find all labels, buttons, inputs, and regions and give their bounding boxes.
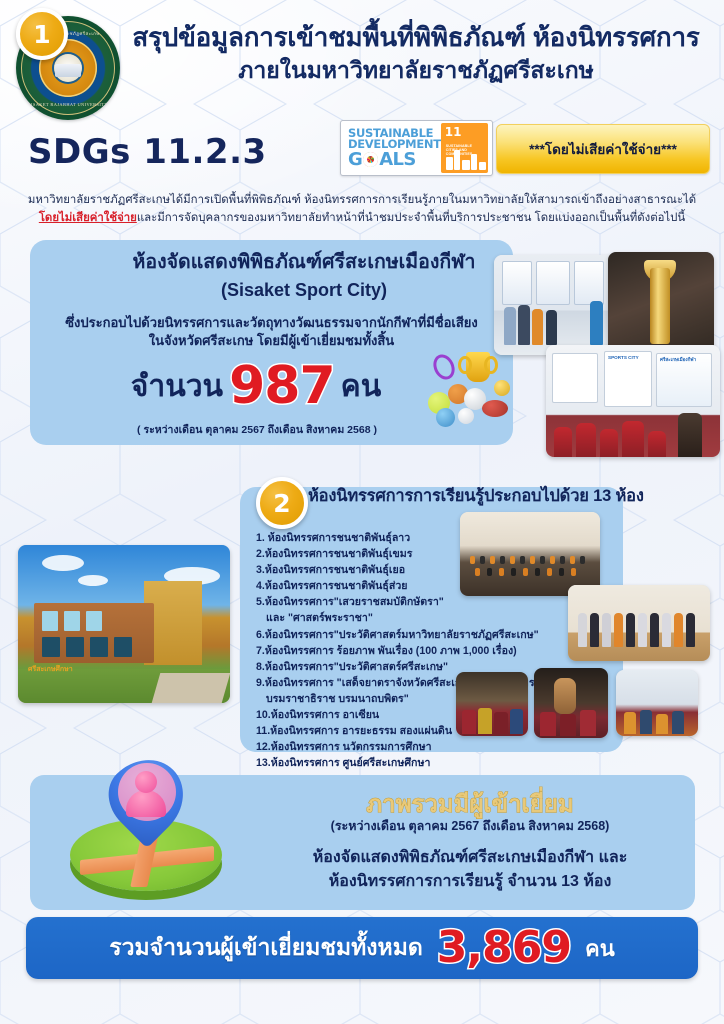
sdg-goals-g: G — [348, 151, 362, 169]
exhibition-room-item: 12.ห้องนิทรรศการ นวัตกรรมการศึกษา — [256, 739, 676, 755]
trophy-icon — [466, 352, 490, 382]
photo-muaythai-image — [534, 668, 608, 738]
photo-group — [460, 512, 600, 596]
sdg-word-goals: G ALS — [348, 151, 441, 169]
page-header: มหาวิทยาลัยราชภัฏศรีสะเกษ SISAKET RAJABH… — [0, 0, 724, 120]
sdg-goal-11-tile: 11 SUSTAINABLE CITIES AND COMMUNITIES — [441, 123, 488, 173]
building-sign-text: ศรีสะเกษศึกษา — [28, 664, 73, 675]
photo-sportcity-image: SPORTS CITY ศรีสะเกษเมืองกีฬา — [546, 345, 720, 457]
photo-building: ศรีสะเกษศึกษา — [18, 545, 230, 703]
page-title: สรุปข้อมูลการเข้าชมพื้นที่พิพิธภัณฑ์ ห้อ… — [118, 22, 714, 54]
intro-line-2: และมีการจัดบุคลากรของมหาวิทยาลัยทำหน้าที… — [137, 212, 685, 224]
sdg-heading: SDGs 11.2.3 — [28, 132, 267, 172]
photo-corridor — [616, 670, 698, 736]
section-1-desc-line-1: ซึ่งประกอบไปด้วยนิทรรศการและวัตถุทางวัฒน… — [65, 315, 478, 330]
section-2-number-badge: 2 — [256, 477, 308, 529]
football-icon — [482, 400, 508, 417]
sports-equipment-icon — [428, 352, 514, 430]
total-visitors-label: รวมจำนวนผู้เข้าเยี่ยมชมทั้งหมด — [109, 930, 423, 966]
photo-gallery — [568, 585, 710, 661]
free-admission-text: ***โดยไม่เสียค่าใช้จ่าย*** — [529, 138, 677, 160]
volleyball-icon — [436, 408, 455, 427]
section-1-count-row: จำนวน 987 คน — [56, 362, 456, 411]
summary-period: (ระหว่างเดือน ตุลาคม 2567 ถึงเดือน สิงหา… — [245, 816, 695, 836]
sdg-goals-als: ALS — [379, 151, 416, 169]
building-path — [152, 673, 230, 703]
location-pin-illustration — [62, 757, 232, 912]
photo-ceremony — [456, 672, 528, 736]
section-1-title: ห้องจัดแสดงพิพิธภัณฑ์ศรีสะเกษเมืองกีฬา — [104, 250, 504, 274]
free-admission-banner: ***โดยไม่เสียค่าใช้จ่าย*** — [496, 124, 710, 174]
medal-icon — [494, 380, 510, 396]
summary-line-2: ห้องนิทรรศการการเรียนรู้ จำนวน 13 ห้อง — [245, 869, 695, 894]
page-subtitle: ภายในมหาวิทยาลัยราชภัฏศรีสะเกษ — [118, 56, 714, 86]
photo-sportcity: SPORTS CITY ศรีสะเกษเมืองกีฬา — [546, 345, 720, 457]
section-1-card: ห้องจัดแสดงพิพิธภัณฑ์ศรีสะเกษเมืองกีฬา (… — [30, 240, 513, 445]
intro-line-1: มหาวิทยาลัยราชภัฏศรีสะเกษได้มีการเปิดพื้… — [28, 194, 696, 206]
section-1-description: ซึ่งประกอบไปด้วยนิทรรศการและวัตถุทางวัฒน… — [42, 314, 501, 351]
section-1-subtitle: (Sisaket Sport City) — [104, 280, 504, 301]
pin-person-head-icon — [135, 771, 157, 793]
sdg-goal-number: 11 — [445, 126, 462, 138]
summary-line-1: ห้องจัดแสดงพิพิธภัณฑ์ศรีสะเกษเมืองกีฬา แ… — [245, 845, 695, 870]
tennis-racket-icon — [429, 351, 458, 383]
section-1-count-value: 987 — [229, 362, 335, 411]
section-1-desc-line-2: ในจังหวัดศรีสะเกษ โดยมีผู้เข้าเยี่ยมชมทั… — [149, 333, 394, 348]
photo-group-image — [460, 512, 600, 596]
shuttlecock-icon — [458, 408, 474, 424]
section-2-title: ห้องนิทรรศการการเรียนรู้ประกอบไปด้วย 13 … — [308, 483, 708, 509]
section-1-number-badge: 1 — [16, 8, 68, 60]
photo-building-image: ศรีสะเกษศึกษา — [18, 545, 230, 703]
sdg-city-icon — [446, 150, 486, 170]
section-1-count-label: จำนวน — [131, 363, 223, 410]
total-visitors-unit: คน — [585, 931, 615, 966]
photo-gallery-image — [568, 585, 710, 661]
trophy-column-shape — [650, 268, 670, 344]
exhibition-room-item: 13.ห้องนิทรรศการ ศูนย์ศรีสะเกษศึกษา — [256, 755, 676, 771]
photo-muaythai — [534, 668, 608, 738]
photo-ceremony-image — [456, 672, 528, 736]
intro-highlight-free: โดยไม่เสียค่าใช้จ่าย — [39, 212, 137, 224]
seal-text-bottom: SISAKET RAJABHAT UNIVERSITY — [22, 102, 114, 107]
section-1-count-unit: คน — [341, 363, 382, 410]
photo-corridor-image — [616, 670, 698, 736]
seal-base-icon — [55, 64, 81, 77]
total-visitors-value: 3,869 — [437, 926, 571, 970]
intro-paragraph: มหาวิทยาลัยราชภัฏศรีสะเกษได้มีการเปิดพื้… — [22, 192, 702, 227]
sdg-badge: SUSTAINABLE DEVELOPMENT G ALS 11 SUSTAIN… — [340, 120, 493, 176]
section-1-period: ( ระหว่างเดือน ตุลาคม 2567 ถึงเดือน สิงห… — [42, 421, 472, 438]
total-visitors-bar: รวมจำนวนผู้เข้าเยี่ยมชมทั้งหมด 3,869 คน — [26, 917, 698, 979]
header-titles: สรุปข้อมูลการเข้าชมพื้นที่พิพิธภัณฑ์ ห้อ… — [118, 22, 714, 86]
building-main-block — [34, 603, 154, 663]
sdg-color-wheel-icon — [363, 152, 378, 167]
sdg-badge-words: SUSTAINABLE DEVELOPMENT G ALS — [345, 128, 441, 169]
